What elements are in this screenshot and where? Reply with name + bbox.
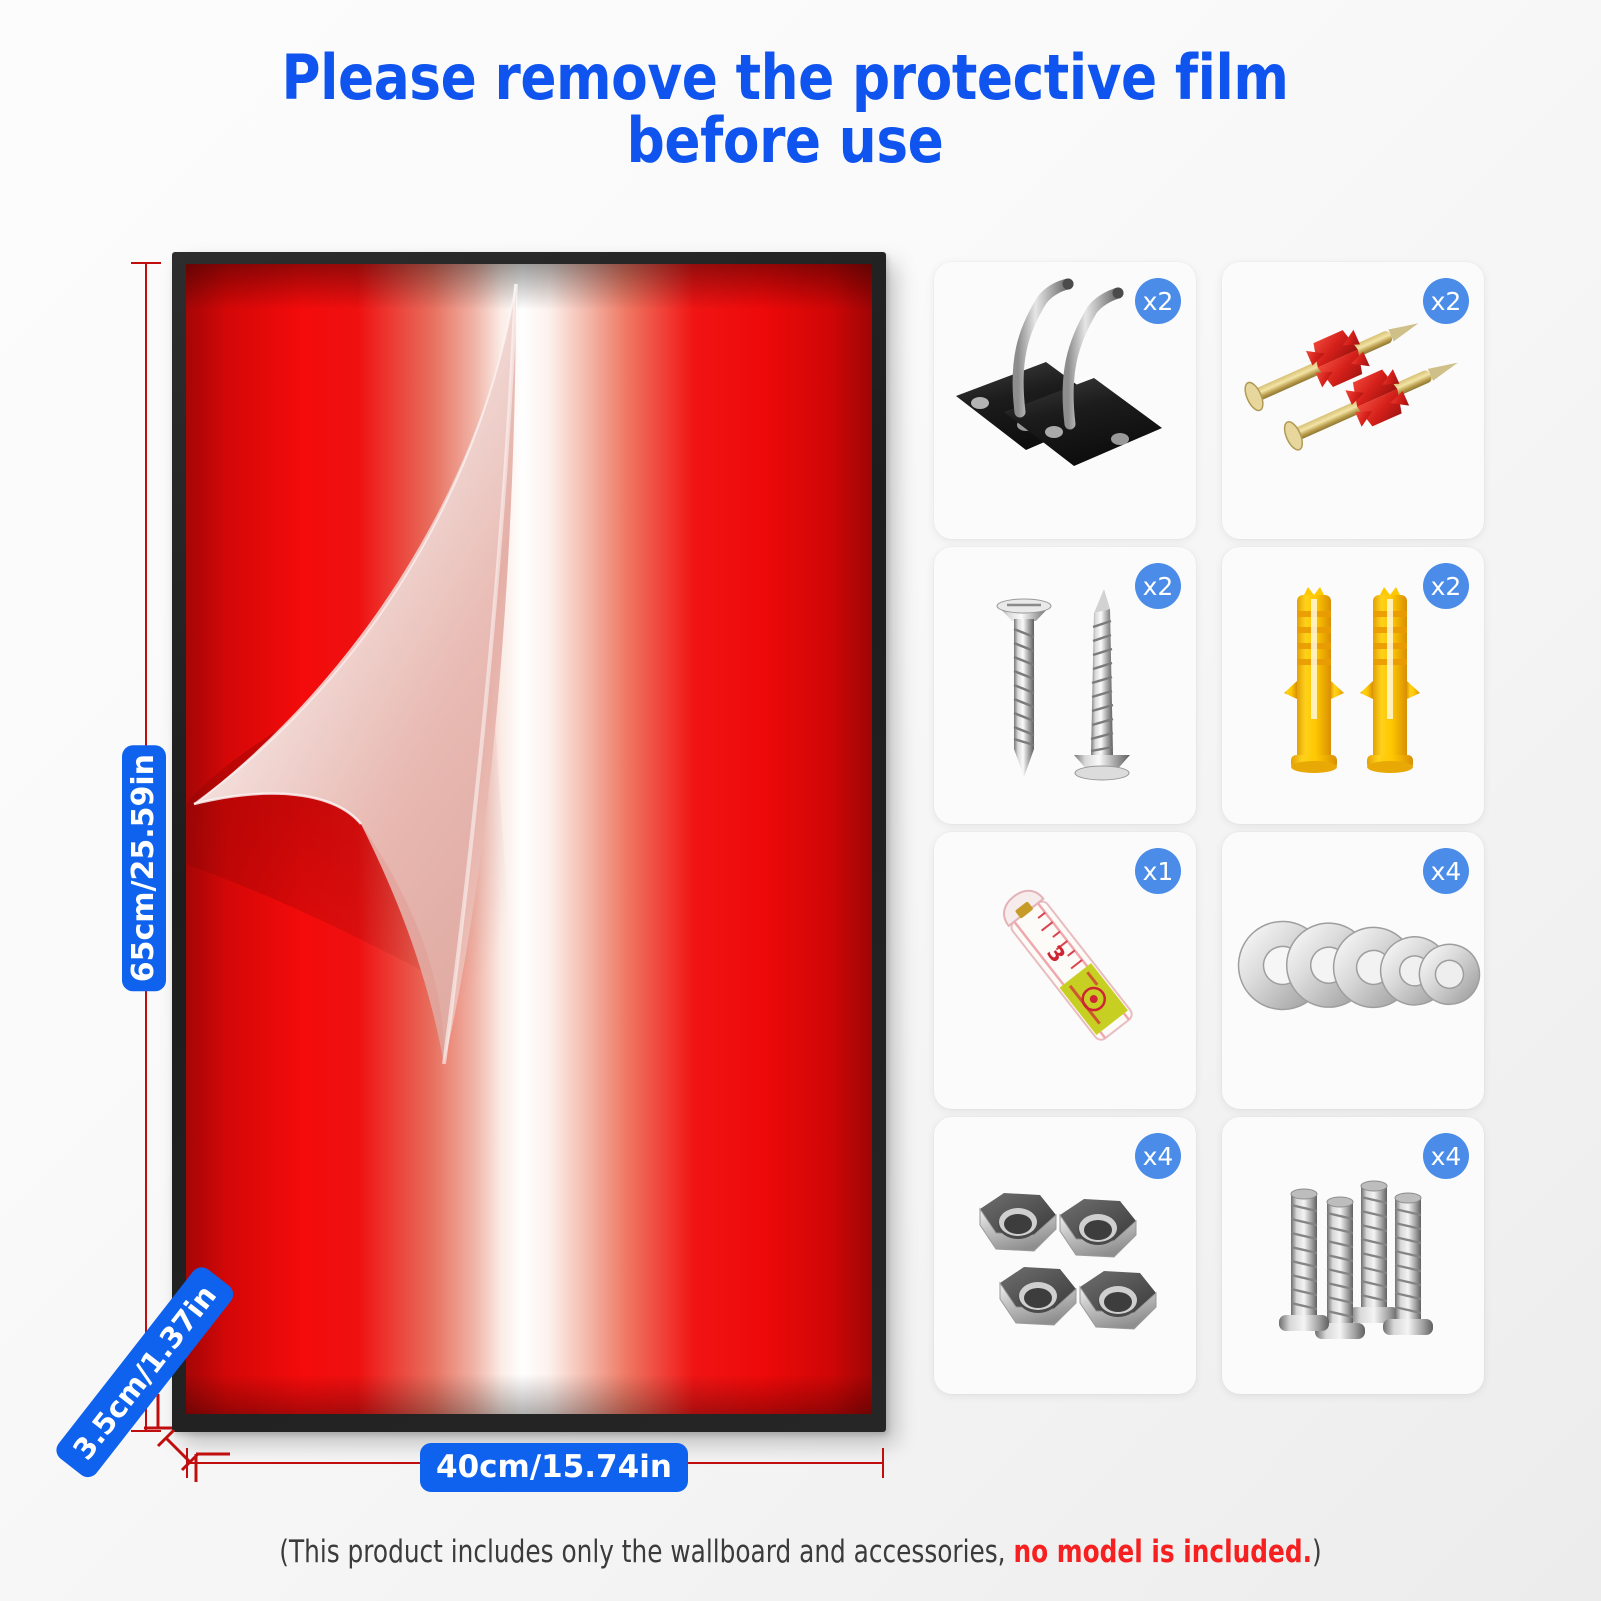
height-dimension-label: 65cm/25.59in: [122, 745, 166, 991]
footnote-suffix: ): [1312, 1534, 1322, 1570]
page-title: Please remove the protective film before…: [110, 46, 1460, 172]
height-cap-top: [131, 262, 161, 264]
page-title-line1: Please remove the protective film: [281, 41, 1288, 114]
quantity-badge: x4: [1135, 1133, 1181, 1179]
accessory-card-measuring-tape[interactable]: x1 3: [934, 832, 1196, 1109]
footnote-prefix: (This product includes only the wallboar…: [279, 1534, 1013, 1570]
accessory-card-self-tapping-screw[interactable]: x2: [934, 547, 1196, 824]
footnote: (This product includes only the wallboar…: [160, 1534, 1441, 1570]
accessory-card-flat-washer[interactable]: x4: [1222, 832, 1484, 1109]
quantity-badge: x4: [1423, 848, 1469, 894]
protective-film-peel: [186, 264, 872, 1414]
accessory-card-machine-bolt[interactable]: x4: [1222, 1117, 1484, 1394]
quantity-badge: x2: [1135, 563, 1181, 609]
page-title-line2: before use: [627, 104, 944, 177]
width-cap-right: [882, 1448, 884, 1478]
quantity-badge: x2: [1135, 278, 1181, 324]
accessory-card-concrete-steel-nail[interactable]: x2: [1222, 262, 1484, 539]
quantity-badge: x2: [1423, 563, 1469, 609]
accessory-card-hex-nut[interactable]: x4: [934, 1117, 1196, 1394]
quantity-badge: x1: [1135, 848, 1181, 894]
quantity-badge: x4: [1423, 1133, 1469, 1179]
accessory-card-yellow-wall-anchor[interactable]: x2: [1222, 547, 1484, 824]
width-dimension-label: 40cm/15.74in: [420, 1443, 688, 1492]
depth-dimension-marker: [138, 1392, 248, 1502]
footnote-highlight: no model is included.: [1013, 1534, 1312, 1570]
wallboard-product-image: [172, 252, 886, 1432]
accessory-grid: x2: [934, 262, 1484, 1394]
accessory-card-wall-hook-bracket[interactable]: x2: [934, 262, 1196, 539]
quantity-badge: x2: [1423, 278, 1469, 324]
board-panel-surface: [186, 264, 872, 1414]
